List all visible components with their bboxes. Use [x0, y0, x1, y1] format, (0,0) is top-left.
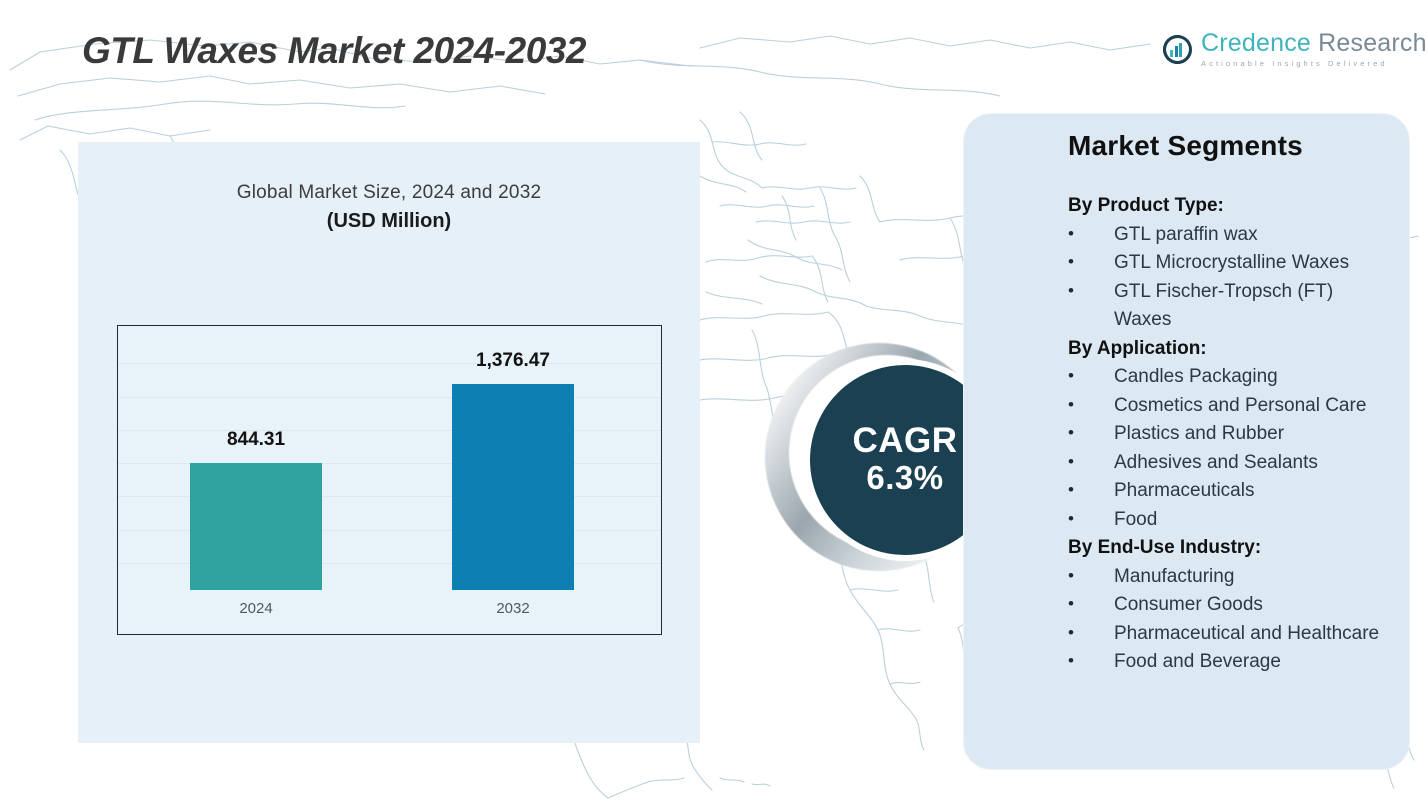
segment-list-item: •Adhesives and Sealants: [1068, 449, 1393, 478]
segment-list-item: •Manufacturing: [1068, 563, 1393, 592]
logo-name: Credence Research: [1201, 31, 1427, 56]
bullet-icon: •: [1068, 278, 1114, 304]
bullet-icon: •: [1068, 363, 1114, 389]
bar-2032: 1,376.472032: [452, 384, 574, 590]
chart-title-line: Global Market Size, 2024 and 2032: [78, 182, 700, 204]
bar-2024: 844.312024: [190, 463, 322, 590]
bar-rect: [190, 463, 322, 590]
credence-research-logo: Credence Research Actionable Insights De…: [1163, 31, 1427, 68]
segment-item-label: Food: [1114, 506, 1393, 535]
bullet-icon: •: [1068, 648, 1114, 674]
segment-list-item: •Food and Beverage: [1068, 648, 1393, 677]
segment-list-item: •Pharmaceuticals: [1068, 477, 1393, 506]
bullet-icon: •: [1068, 221, 1114, 247]
segment-item-label: Cosmetics and Personal Care: [1114, 392, 1393, 421]
bar-chart: 844.3120241,376.472032: [117, 325, 662, 635]
segment-item-label: Candles Packaging: [1114, 363, 1393, 392]
bullet-icon: •: [1068, 249, 1114, 275]
bar-value-label: 1,376.47: [476, 350, 550, 372]
chart-heading: Global Market Size, 2024 and 2032 (USD M…: [78, 182, 700, 233]
bullet-icon: •: [1068, 392, 1114, 418]
segment-item-label: Plastics and Rubber: [1114, 420, 1393, 449]
logo-name-primary: Credence: [1201, 29, 1311, 57]
logo-name-secondary: Research: [1311, 29, 1427, 57]
segment-item-label: GTL Fischer-Tropsch (FT) Waxes: [1114, 278, 1393, 335]
market-segments-list: By Product Type:•GTL paraffin wax•GTL Mi…: [964, 192, 1409, 677]
market-segments-title: Market Segments: [964, 130, 1409, 162]
segment-list-item: •Food: [1068, 506, 1393, 535]
segment-item-label: Manufacturing: [1114, 563, 1393, 592]
bullet-icon: •: [1068, 477, 1114, 503]
segment-list-item: •Plastics and Rubber: [1068, 420, 1393, 449]
segment-list-item: •Pharmaceutical and Healthcare: [1068, 620, 1393, 649]
segment-list-item: •Cosmetics and Personal Care: [1068, 392, 1393, 421]
segment-item-label: Pharmaceuticals: [1114, 477, 1393, 506]
segment-list-item: •GTL Fischer-Tropsch (FT) Waxes: [1068, 278, 1393, 335]
segment-item-label: Consumer Goods: [1114, 591, 1393, 620]
bullet-icon: •: [1068, 420, 1114, 446]
bar-value-label: 844.31: [227, 429, 285, 451]
segment-item-label: GTL paraffin wax: [1114, 221, 1393, 250]
segment-list-item: •GTL Microcrystalline Waxes: [1068, 249, 1393, 278]
page-title: GTL Waxes Market 2024-2032: [82, 30, 586, 72]
segment-group-heading: By Product Type:: [1068, 192, 1393, 221]
bullet-icon: •: [1068, 563, 1114, 589]
bullet-icon: •: [1068, 506, 1114, 532]
chart-plot-area: 844.3120241,376.472032: [118, 326, 661, 634]
cagr-value: 6.3%: [866, 459, 943, 497]
bullet-icon: •: [1068, 620, 1114, 646]
segment-list-item: •Candles Packaging: [1068, 363, 1393, 392]
market-segments-panel: Market Segments By Product Type:•GTL par…: [963, 113, 1410, 770]
bar-rect: [452, 384, 574, 590]
segment-item-label: Adhesives and Sealants: [1114, 449, 1393, 478]
bar-category-label: 2024: [239, 600, 272, 617]
bar-category-label: 2032: [496, 600, 529, 617]
logo-bar-chart-icon: [1163, 35, 1192, 64]
segment-group-heading: By End-Use Industry:: [1068, 534, 1393, 563]
segment-list-item: •Consumer Goods: [1068, 591, 1393, 620]
cagr-label: CAGR: [852, 423, 957, 460]
segment-list-item: •GTL paraffin wax: [1068, 221, 1393, 250]
segment-item-label: Pharmaceutical and Healthcare: [1114, 620, 1393, 649]
bullet-icon: •: [1068, 449, 1114, 475]
segment-group-heading: By Application:: [1068, 335, 1393, 364]
chart-subtitle-line: (USD Million): [78, 210, 700, 233]
segment-item-label: Food and Beverage: [1114, 648, 1393, 677]
bullet-icon: •: [1068, 591, 1114, 617]
segment-item-label: GTL Microcrystalline Waxes: [1114, 249, 1393, 278]
logo-tagline: Actionable Insights Delivered: [1201, 60, 1427, 68]
